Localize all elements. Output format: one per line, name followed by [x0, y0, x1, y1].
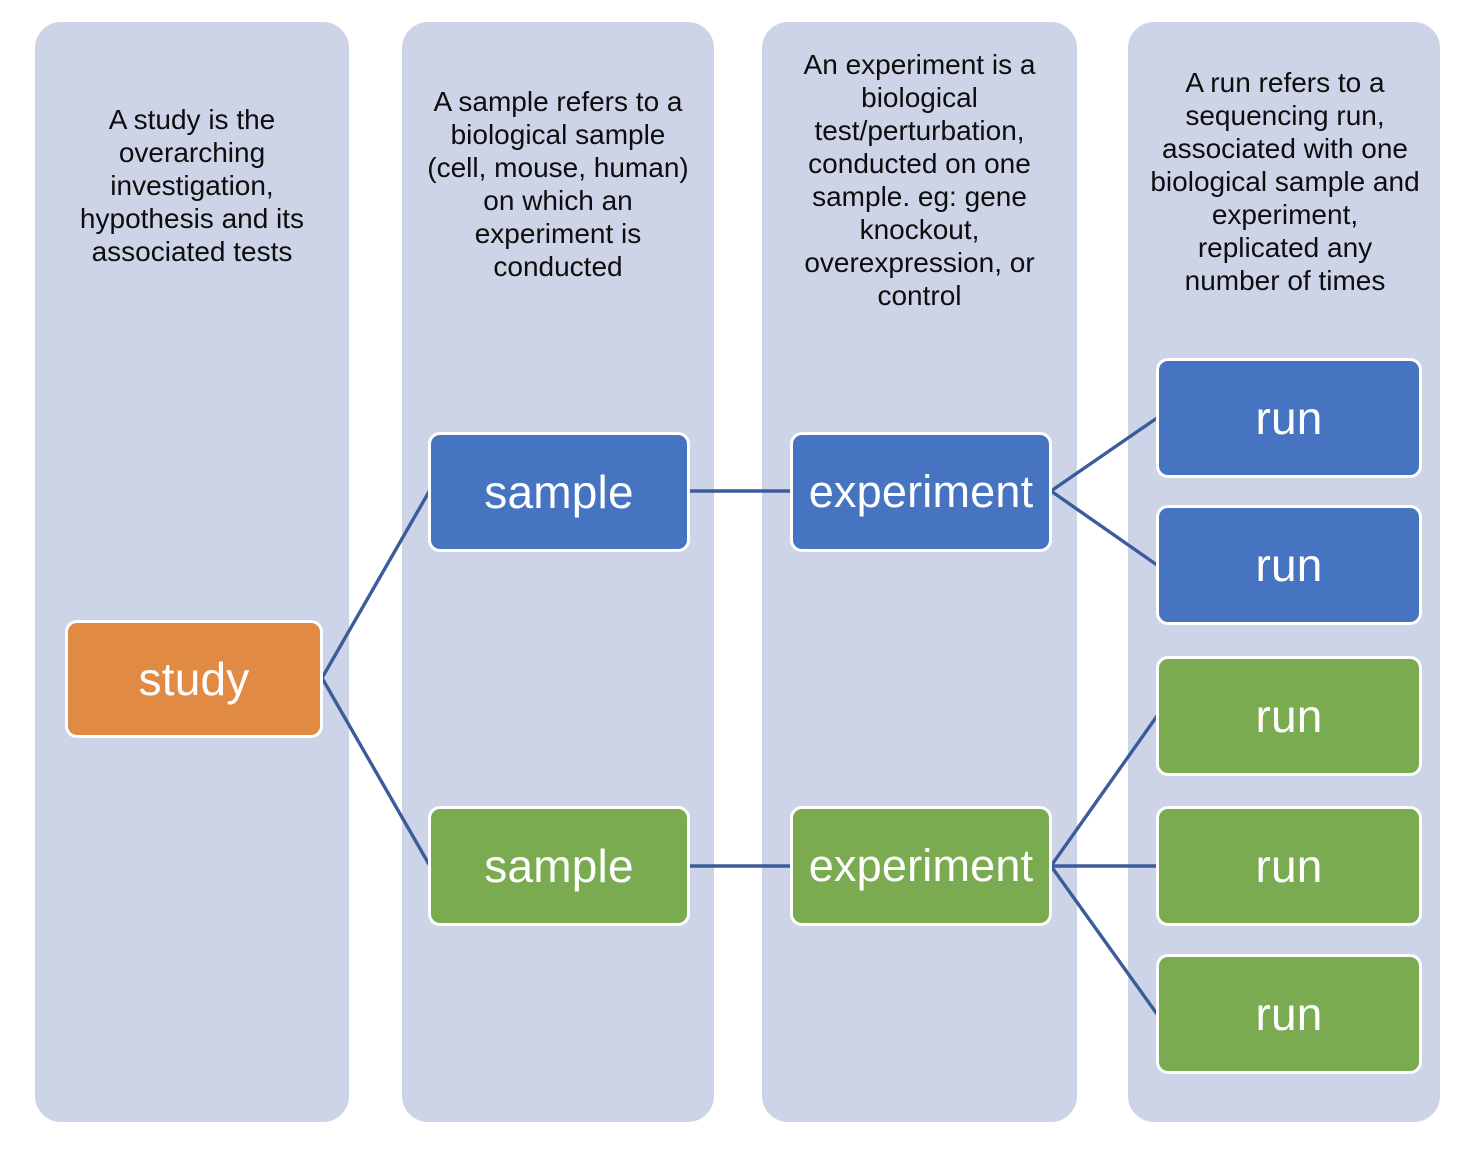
description-run-column: A run refers to a sequencing run, associ…: [1140, 66, 1430, 297]
node-run-green-2[interactable]: run: [1156, 806, 1422, 926]
node-experiment-green[interactable]: experiment: [790, 806, 1052, 926]
node-sample-blue[interactable]: sample: [428, 432, 690, 552]
node-run-green-3[interactable]: run: [1156, 954, 1422, 1074]
diagram-canvas: A study is the overarching investigation…: [0, 0, 1484, 1154]
node-experiment-blue[interactable]: experiment: [790, 432, 1052, 552]
node-run-blue-1[interactable]: run: [1156, 358, 1422, 478]
node-run-green-1[interactable]: run: [1156, 656, 1422, 776]
node-sample-green[interactable]: sample: [428, 806, 690, 926]
description-study-column: A study is the overarching investigation…: [55, 103, 329, 268]
node-study[interactable]: study: [65, 620, 323, 738]
description-experiment-column: An experiment is a biological test/pertu…: [776, 48, 1063, 312]
description-sample-column: A sample refers to a biological sample (…: [412, 85, 704, 283]
node-run-blue-2[interactable]: run: [1156, 505, 1422, 625]
